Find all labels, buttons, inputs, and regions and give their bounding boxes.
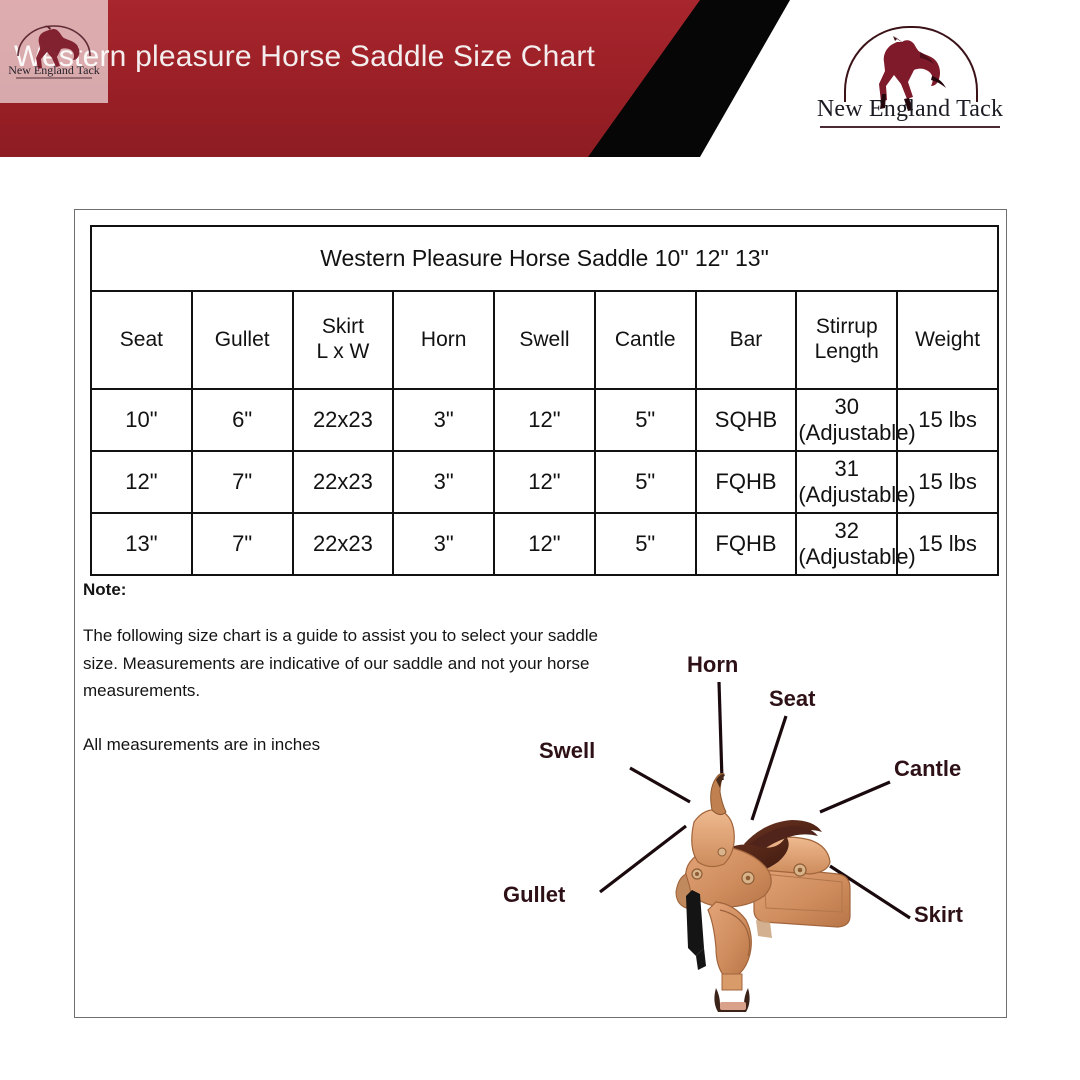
column-header-cantle: Cantle: [595, 291, 696, 389]
cell-horn: 3": [393, 513, 494, 575]
cell-swell: 12": [494, 513, 595, 575]
logo-wordmark: New England Tack: [812, 96, 1008, 123]
svg-text:New England Tack: New England Tack: [8, 63, 100, 77]
diagram-label-seat: Seat: [769, 686, 815, 712]
column-header-horn: Horn: [393, 291, 494, 389]
column-label: Skirt: [322, 315, 364, 338]
cell-horn: 3": [393, 451, 494, 513]
cell-bar: FQHB: [696, 513, 797, 575]
column-header-seat: Seat: [91, 291, 192, 389]
diagram-label-swell: Swell: [539, 738, 595, 764]
table-title-row: Western Pleasure Horse Saddle 10" 12" 13…: [91, 226, 998, 291]
column-label: Gullet: [215, 328, 270, 351]
cell-cantle: 5": [595, 451, 696, 513]
cell-stirrup-length: 32 (Adjustable): [796, 513, 897, 575]
column-sublabel: L x W: [316, 340, 369, 363]
diagram-label-horn: Horn: [687, 652, 738, 678]
diagram-label-skirt: Skirt: [914, 902, 963, 928]
column-label: Horn: [421, 328, 467, 351]
column-header-weight: Weight: [897, 291, 998, 389]
logo-underline: [820, 126, 1000, 128]
leader-line-horn: [719, 682, 722, 780]
diagram-label-cantle: Cantle: [894, 756, 961, 782]
diagram-label-gullet: Gullet: [503, 882, 565, 908]
cell-swell: 12": [494, 389, 595, 451]
cell-stirrup-length: 31 (Adjustable): [796, 451, 897, 513]
cell-skirt: 22x23: [293, 389, 394, 451]
brand-logo: New England Tack: [812, 24, 1008, 136]
cell-cantle: 5": [595, 389, 696, 451]
cell-gullet: 7": [192, 513, 293, 575]
table-head: Western Pleasure Horse Saddle 10" 12" 13…: [91, 226, 998, 389]
column-label: Cantle: [615, 328, 676, 351]
column-label: Swell: [519, 328, 569, 351]
column-label: Weight: [915, 328, 980, 351]
watermark-logo: New England Tack: [0, 0, 108, 103]
column-header-stirrup-length: Stirrup Length: [796, 291, 897, 389]
cell-gullet: 7": [192, 451, 293, 513]
new-england-tack-watermark-icon: New England Tack: [6, 22, 102, 82]
column-header-bar: Bar: [696, 291, 797, 389]
cell-gullet: 6": [192, 389, 293, 451]
cell-bar: SQHB: [696, 389, 797, 451]
cell-stirrup-length: 30 (Adjustable): [796, 389, 897, 451]
saddle-size-table: Western Pleasure Horse Saddle 10" 12" 13…: [90, 225, 999, 576]
table-header-row: Seat Gullet Skirt L x W Horn Swell Cantl…: [91, 291, 998, 389]
cell-cantle: 5": [595, 513, 696, 575]
cell-seat: 10": [91, 389, 192, 451]
column-label: Bar: [730, 328, 763, 351]
cell-seat: 12": [91, 451, 192, 513]
cell-bar: FQHB: [696, 451, 797, 513]
cell-skirt: 22x23: [293, 513, 394, 575]
table-row: 12" 7" 22x23 3" 12" 5" FQHB 31 (Adjustab…: [91, 451, 998, 513]
table-body: 10" 6" 22x23 3" 12" 5" SQHB 30 (Adjustab…: [91, 389, 998, 575]
cell-skirt: 22x23: [293, 451, 394, 513]
column-header-skirt: Skirt L x W: [293, 291, 394, 389]
cell-horn: 3": [393, 389, 494, 451]
cell-swell: 12": [494, 451, 595, 513]
column-label: Stirrup Length: [815, 315, 879, 363]
saddle-diagram: Horn Seat Swell Cantle Gullet Skirt: [490, 630, 1010, 1020]
column-label: Seat: [120, 328, 163, 351]
cell-seat: 13": [91, 513, 192, 575]
western-saddle-image: [660, 770, 870, 1020]
table-title: Western Pleasure Horse Saddle 10" 12" 13…: [91, 226, 998, 291]
table-row: 10" 6" 22x23 3" 12" 5" SQHB 30 (Adjustab…: [91, 389, 998, 451]
column-header-gullet: Gullet: [192, 291, 293, 389]
watermark-inner: New England Tack: [6, 22, 102, 82]
table-row: 13" 7" 22x23 3" 12" 5" FQHB 32 (Adjustab…: [91, 513, 998, 575]
column-header-swell: Swell: [494, 291, 595, 389]
note-heading: Note:: [83, 580, 603, 600]
